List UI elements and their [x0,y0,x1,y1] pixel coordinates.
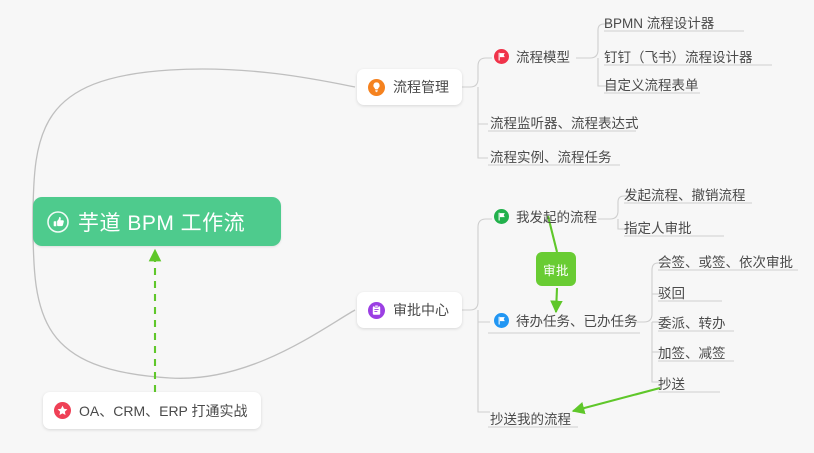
arrow-cc-to-cc-mine [573,388,660,411]
flag-icon [494,209,509,224]
wire-ac-child2 [478,310,490,322]
node-add-remove-sign[interactable]: 加签、减签 [658,342,726,366]
branch-label: 流程管理 [393,77,449,97]
node-custom-form[interactable]: 自定义流程表单 [604,74,699,98]
wire-pm-child3 [478,124,488,158]
node-label: 流程模型 [516,46,570,66]
footnote-label: OA、CRM、ERP 打通实战 [79,401,248,421]
clipboard-icon [368,302,385,319]
approval-tag[interactable]: 审批 [536,252,576,286]
node-countersign[interactable]: 会签、或签、依次审批 [658,251,793,275]
wire-ac-child1 [459,219,492,310]
flag-icon [494,313,509,328]
node-cc[interactable]: 抄送 [658,373,685,397]
node-reject[interactable]: 驳回 [658,282,685,306]
star-icon [54,402,71,419]
node-cc-to-me[interactable]: 抄送我的流程 [490,408,571,432]
node-dingtalk-designer[interactable]: 钉钉（飞书）流程设计器 [604,46,753,70]
branch-approval-center[interactable]: 审批中心 [357,292,462,328]
root-node[interactable]: 芋道 BPM 工作流 [33,197,281,246]
wire-ac-child3 [478,322,490,412]
node-instance-task[interactable]: 流程实例、流程任务 [490,146,612,170]
node-bpmn-designer[interactable]: BPMN 流程设计器 [604,12,714,36]
node-todo-done-tasks[interactable]: 待办任务、已办任务 [494,310,638,334]
node-start-cancel-process[interactable]: 发起流程、撤销流程 [624,184,746,208]
thumbs-up-icon [47,211,69,233]
wire-pm-child1 [459,58,492,87]
node-assignee-approval[interactable]: 指定人审批 [624,217,692,241]
arrow-approval-bottom [556,288,557,312]
node-label: 待办任务、已办任务 [516,310,638,330]
approval-tag-label: 审批 [543,260,569,279]
branch-process-management[interactable]: 流程管理 [357,69,462,105]
node-my-initiated[interactable]: 我发起的流程 [494,206,597,230]
wire-pm-child2 [478,87,488,124]
node-process-model[interactable]: 流程模型 [494,46,570,70]
node-label: 我发起的流程 [516,206,597,226]
footnote-node[interactable]: OA、CRM、ERP 打通实战 [43,392,261,429]
branch-label: 审批中心 [393,300,449,320]
lightbulb-icon [368,79,385,96]
mindmap-canvas: 芋道 BPM 工作流 流程管理 流程模型 BPMN 流程设计器 钉钉（飞书）流程 [0,0,814,453]
node-delegate-transfer[interactable]: 委派、转办 [658,312,726,336]
node-listener-expression[interactable]: 流程监听器、流程表达式 [490,112,639,136]
root-label: 芋道 BPM 工作流 [78,207,245,237]
flag-icon [494,49,509,64]
